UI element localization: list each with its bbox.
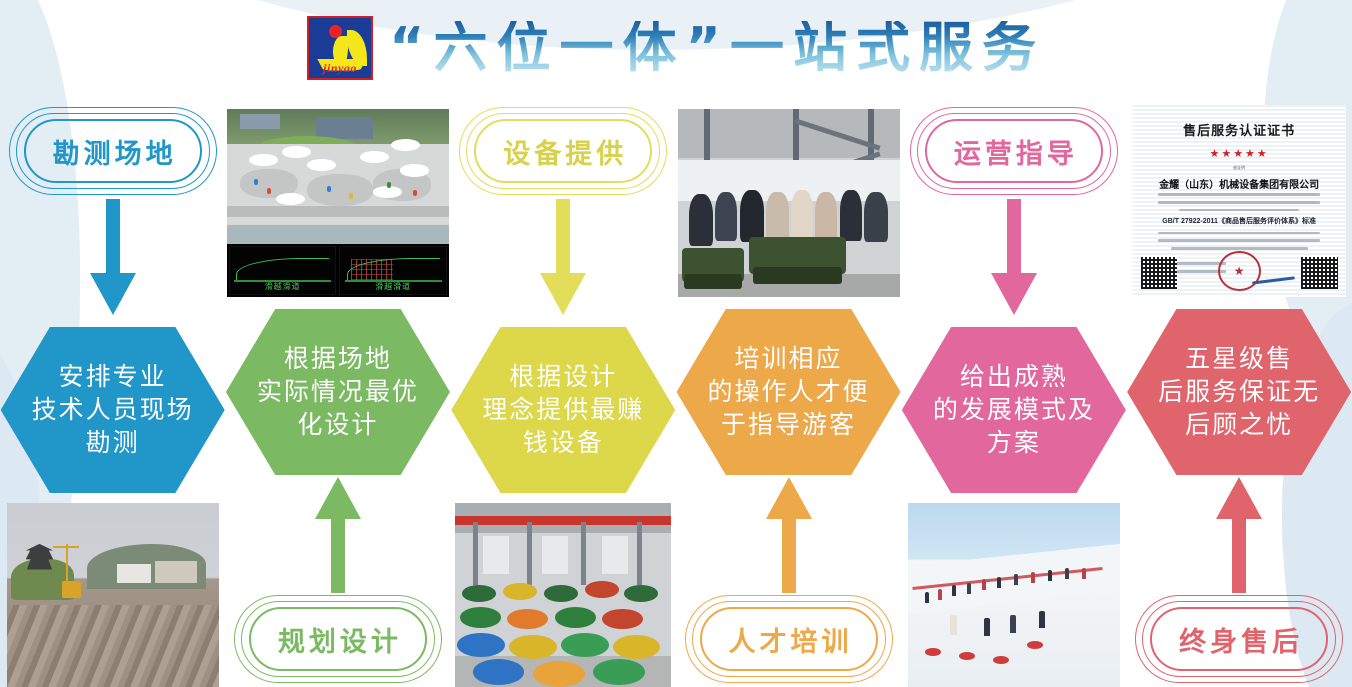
snow-tube-2 xyxy=(959,652,975,660)
equipment-warehouse-photo xyxy=(455,503,671,687)
warehouse-column-3 xyxy=(581,522,586,585)
plan-callout-1 xyxy=(249,154,278,166)
pill-label-text: 运营指导 xyxy=(950,132,1078,171)
plan-road xyxy=(227,206,449,217)
cad-diagram-left: 滑越滑道 xyxy=(229,246,337,295)
service-column-aftersales: 售后服务认证证书 ★★★★★ 兹证明 金耀（山东）机械设备集团有限公司 GB/T… xyxy=(1126,95,1351,687)
hex-training-text: 培训相应 的操作人才便 于指导游客 xyxy=(704,343,874,442)
snow-person-4 xyxy=(967,583,971,594)
certificate-blurline-2 xyxy=(1158,201,1321,204)
hex-design-text: 根据场地 实际情况最优 化设计 xyxy=(253,343,423,442)
site-survey-photo-art xyxy=(7,503,219,687)
hex-training: 培训相应 的操作人才便 于指导游客 xyxy=(677,309,901,475)
hex-survey: 安排专业 技术人员现场 勘测 xyxy=(1,327,225,493)
hall-roof xyxy=(678,109,900,158)
warehouse-column-4 xyxy=(637,522,642,585)
pill-label-survey[interactable]: 勘测场地 xyxy=(9,107,217,195)
certificate-blurline-5 xyxy=(1158,239,1321,242)
hex-design: 根据场地 实际情况最优 化设计 xyxy=(226,309,450,475)
snow-person-5 xyxy=(982,579,986,590)
equipment-warehouse-art xyxy=(455,503,671,687)
photo-pagoda xyxy=(26,544,54,574)
arrow-down-survey xyxy=(90,199,136,319)
snow-person-foreground-2 xyxy=(984,618,990,636)
snow-person-2 xyxy=(938,589,942,600)
certificate-art: 售后服务认证证书 ★★★★★ 兹证明 金耀（山东）机械设备集团有限公司 GB/T… xyxy=(1132,105,1346,297)
certificate-title: 售后服务认证证书 xyxy=(1132,120,1346,139)
arrow-down-equipment xyxy=(540,199,586,319)
pill-label-training[interactable]: 人才培训 xyxy=(685,595,893,683)
plan-water xyxy=(227,225,449,244)
bumper-car-6 xyxy=(460,607,501,627)
photo-excavator xyxy=(62,581,81,598)
pill-label-text: 人才培训 xyxy=(725,620,853,659)
pill-label-operation[interactable]: 运营指导 xyxy=(910,107,1118,195)
park-plan-cad-strip: 滑越滑道 滑越滑道 xyxy=(227,244,449,297)
service-column-equipment: 设备提供 根据设计 理念提供最赚 钱设备 xyxy=(451,95,676,687)
snow-tube-3 xyxy=(993,656,1009,664)
arrow-up-design xyxy=(315,473,361,593)
cad-diagrams: 滑越滑道 滑越滑道 xyxy=(227,244,449,297)
logo-brand-text: jinyao xyxy=(309,61,371,76)
snow-person-11 xyxy=(1082,568,1086,579)
after-sales-certificate-photo: 售后服务认证证书 ★★★★★ 兹证明 金耀（山东）机械设备集团有限公司 GB/T… xyxy=(1132,105,1346,297)
bumper-car-10 xyxy=(457,633,505,657)
snow-tube-4 xyxy=(1027,641,1043,649)
hex-operation: 给出成熟 的发展模式及 方案 xyxy=(902,327,1126,493)
plan-figure-5 xyxy=(387,182,391,188)
pill-label-equipment[interactable]: 设备提供 xyxy=(459,107,667,195)
snow-person-6 xyxy=(997,577,1001,588)
pill-label-text: 勘测场地 xyxy=(49,132,177,171)
certificate-blurline-3 xyxy=(1179,209,1299,212)
trainee-2 xyxy=(715,192,737,241)
warehouse-column-1 xyxy=(473,522,478,585)
bumper-car-11 xyxy=(509,635,557,659)
park-plan-render-top xyxy=(227,109,449,244)
bumper-car-7 xyxy=(507,609,548,629)
certificate-qr-right xyxy=(1301,257,1337,290)
infographic-root: jinyao “六位一体”一站式服务 勘测场地 安排专业 技术人员现场 勘测 xyxy=(0,0,1352,687)
certificate-blurline-1 xyxy=(1158,193,1321,196)
certificate-blurline-6 xyxy=(1171,247,1308,250)
snow-person-foreground-3 xyxy=(1010,615,1016,633)
pill-label-text: 规划设计 xyxy=(274,620,402,659)
service-columns: 勘测场地 安排专业 技术人员现场 勘测 xyxy=(0,95,1352,687)
photo-house-a xyxy=(117,564,151,583)
hex-aftersales: 五星级售 后服务保证无 后顾之忧 xyxy=(1127,309,1351,475)
hex-survey-text: 安排专业 技术人员现场 勘测 xyxy=(28,361,198,460)
plan-zone-b xyxy=(307,174,374,206)
bumper-car-15 xyxy=(533,661,585,687)
page-title: “六位一体”一站式服务 xyxy=(389,21,1045,75)
hex-aftersales-text: 五星级售 后服务保证无 后顾之忧 xyxy=(1154,343,1324,442)
hex-operation-text: 给出成熟 的发展模式及 方案 xyxy=(929,361,1099,460)
arrow-up-aftersales xyxy=(1216,473,1262,593)
plan-figure-3 xyxy=(327,186,331,192)
plan-figure-4 xyxy=(349,193,353,199)
certificate-qr-left xyxy=(1141,257,1177,290)
plan-callout-5 xyxy=(391,139,420,151)
bumper-car-9 xyxy=(602,609,643,629)
plan-figure-1 xyxy=(254,179,258,185)
service-column-survey: 勘测场地 安排专业 技术人员现场 勘测 xyxy=(0,95,225,687)
bumper-car-2 xyxy=(503,583,538,600)
site-survey-photo xyxy=(7,503,219,687)
photo-crane-arm xyxy=(53,546,78,548)
service-column-training: 培训相应 的操作人才便 于指导游客 人才培训 xyxy=(676,95,901,687)
park-plan-art xyxy=(227,109,449,244)
cad-label-right: 滑越滑道 xyxy=(340,281,446,292)
snow-person-foreground-1 xyxy=(950,615,957,635)
trainee-7 xyxy=(840,190,862,241)
plan-figure-2 xyxy=(267,188,271,194)
hex-equipment-text: 根据设计 理念提供最赚 钱设备 xyxy=(478,361,648,460)
certificate-company: 金耀（山东）机械设备集团有限公司 xyxy=(1132,176,1346,191)
arrow-down-operation xyxy=(991,199,1037,319)
training-session-photo xyxy=(678,109,900,297)
trainee-5 xyxy=(791,190,813,241)
bumper-car-1 xyxy=(462,585,497,602)
trainee-1 xyxy=(689,194,713,247)
pill-label-text: 终身售后 xyxy=(1175,620,1303,659)
trainee-8 xyxy=(864,192,888,243)
bumper-car-12 xyxy=(561,633,609,657)
trainee-6 xyxy=(815,192,837,241)
snow-person-foreground-4 xyxy=(1039,611,1045,628)
snow-park-art xyxy=(908,503,1120,687)
cad-label-left: 滑越滑道 xyxy=(230,281,336,292)
plan-building-main xyxy=(316,117,374,139)
snow-person-3 xyxy=(952,585,956,596)
cad-slope-curve xyxy=(236,258,329,281)
bumper-car-8 xyxy=(555,607,596,627)
photo-dirt-ground xyxy=(7,605,219,687)
trainee-3 xyxy=(740,190,764,243)
service-column-operation: 运营指导 给出成熟 的发展模式及 方案 xyxy=(901,95,1126,687)
tracked-vehicle-track xyxy=(753,267,842,284)
certificate-standard: GB/T 27922-2011《商品售后服务评价体系》标准 xyxy=(1132,216,1346,226)
training-session-art xyxy=(678,109,900,297)
snow-person-10 xyxy=(1065,568,1069,579)
photo-house-b xyxy=(155,561,197,583)
plan-callout-6 xyxy=(400,164,429,176)
tracked-vehicle-left-track xyxy=(684,274,742,289)
photo-crane-mast xyxy=(66,544,68,585)
warehouse-window-2 xyxy=(542,536,568,573)
hex-equipment: 根据设计 理念提供最赚 钱设备 xyxy=(451,327,675,493)
plan-callout-7 xyxy=(276,193,305,205)
pill-label-text: 设备提供 xyxy=(499,132,627,171)
trainee-4 xyxy=(766,192,788,241)
cad-diagram-right: 滑越滑道 xyxy=(339,246,447,295)
service-column-design: 滑越滑道 滑越滑道 根据场地 实际情况最优 化设计 xyxy=(225,95,450,687)
pill-label-design[interactable]: 规划设计 xyxy=(234,595,442,683)
snow-person-9 xyxy=(1048,570,1052,581)
warehouse-column-2 xyxy=(527,522,532,585)
pill-label-aftersales[interactable]: 终身售后 xyxy=(1135,595,1343,683)
warehouse-window-1 xyxy=(483,536,509,573)
bumper-car-5 xyxy=(624,585,659,602)
snow-person-1 xyxy=(925,592,929,603)
snow-person-7 xyxy=(1014,574,1018,585)
warehouse-window-3 xyxy=(602,536,628,573)
certificate-blurline-4 xyxy=(1158,232,1321,235)
page-header: jinyao “六位一体”一站式服务 xyxy=(0,0,1352,95)
bumper-car-3 xyxy=(544,585,579,602)
snow-person-8 xyxy=(1031,572,1035,583)
snow-tube-1 xyxy=(925,648,941,656)
jinyao-sailboat-logo-icon: jinyao xyxy=(307,16,373,80)
hall-windows xyxy=(678,160,900,201)
arrow-up-training xyxy=(766,473,812,593)
plan-building-small xyxy=(240,114,280,129)
bumper-car-4 xyxy=(585,581,620,598)
certificate-stars: ★★★★★ xyxy=(1132,147,1346,160)
park-plan-render-photo: 滑越滑道 滑越滑道 xyxy=(227,109,449,297)
plan-callout-2 xyxy=(282,146,311,158)
certificate-seal-icon: ★ xyxy=(1218,251,1261,291)
certificate-subtitle: 兹证明 xyxy=(1132,165,1346,171)
snow-park-photo xyxy=(908,503,1120,687)
